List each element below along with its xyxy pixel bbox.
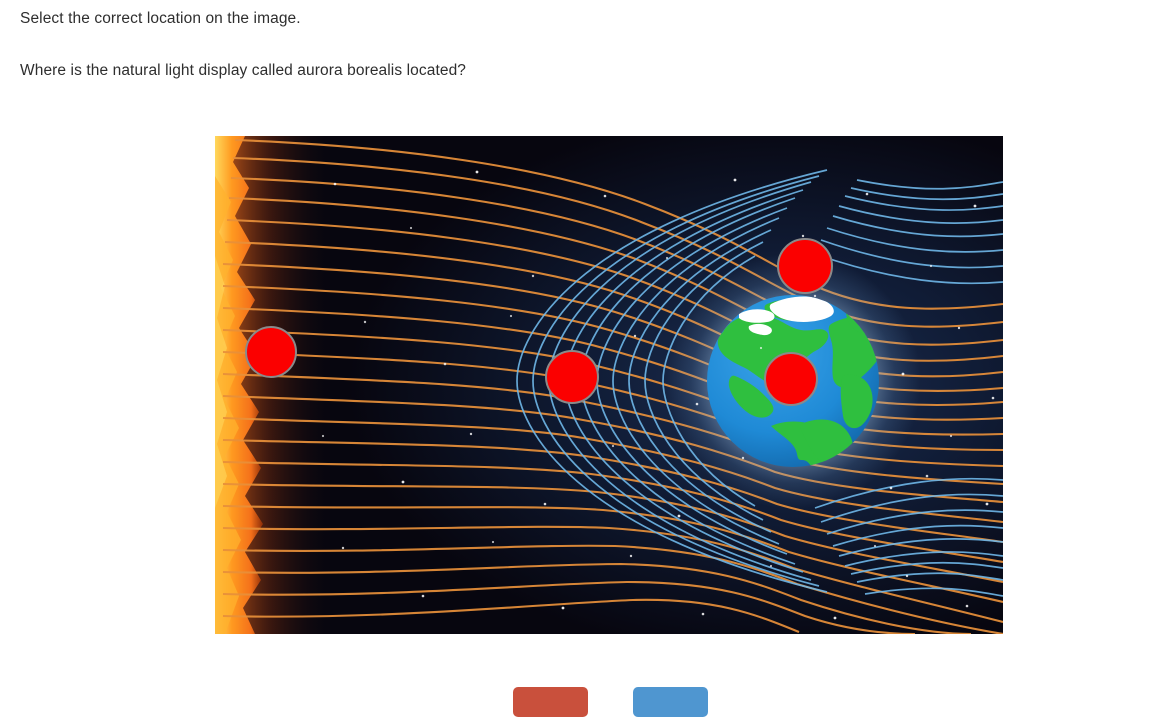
reset-button[interactable]: Reset <box>513 687 588 717</box>
hotspot-layer[interactable] <box>215 136 1003 634</box>
solar-wind-hotspot[interactable] <box>546 351 598 403</box>
magnetosphere-diagram-image[interactable] <box>215 136 1003 634</box>
sun-surface-hotspot[interactable] <box>246 327 296 377</box>
instruction-text: Select the correct location on the image… <box>20 9 301 29</box>
submit-button[interactable]: Submit <box>633 687 708 717</box>
answer-actions-bar: Reset Submit <box>0 687 1163 695</box>
earth-equator-hotspot[interactable] <box>765 353 817 405</box>
north-magnetic-pole-hotspot[interactable] <box>778 239 832 293</box>
question-text: Where is the natural light display calle… <box>20 61 466 81</box>
